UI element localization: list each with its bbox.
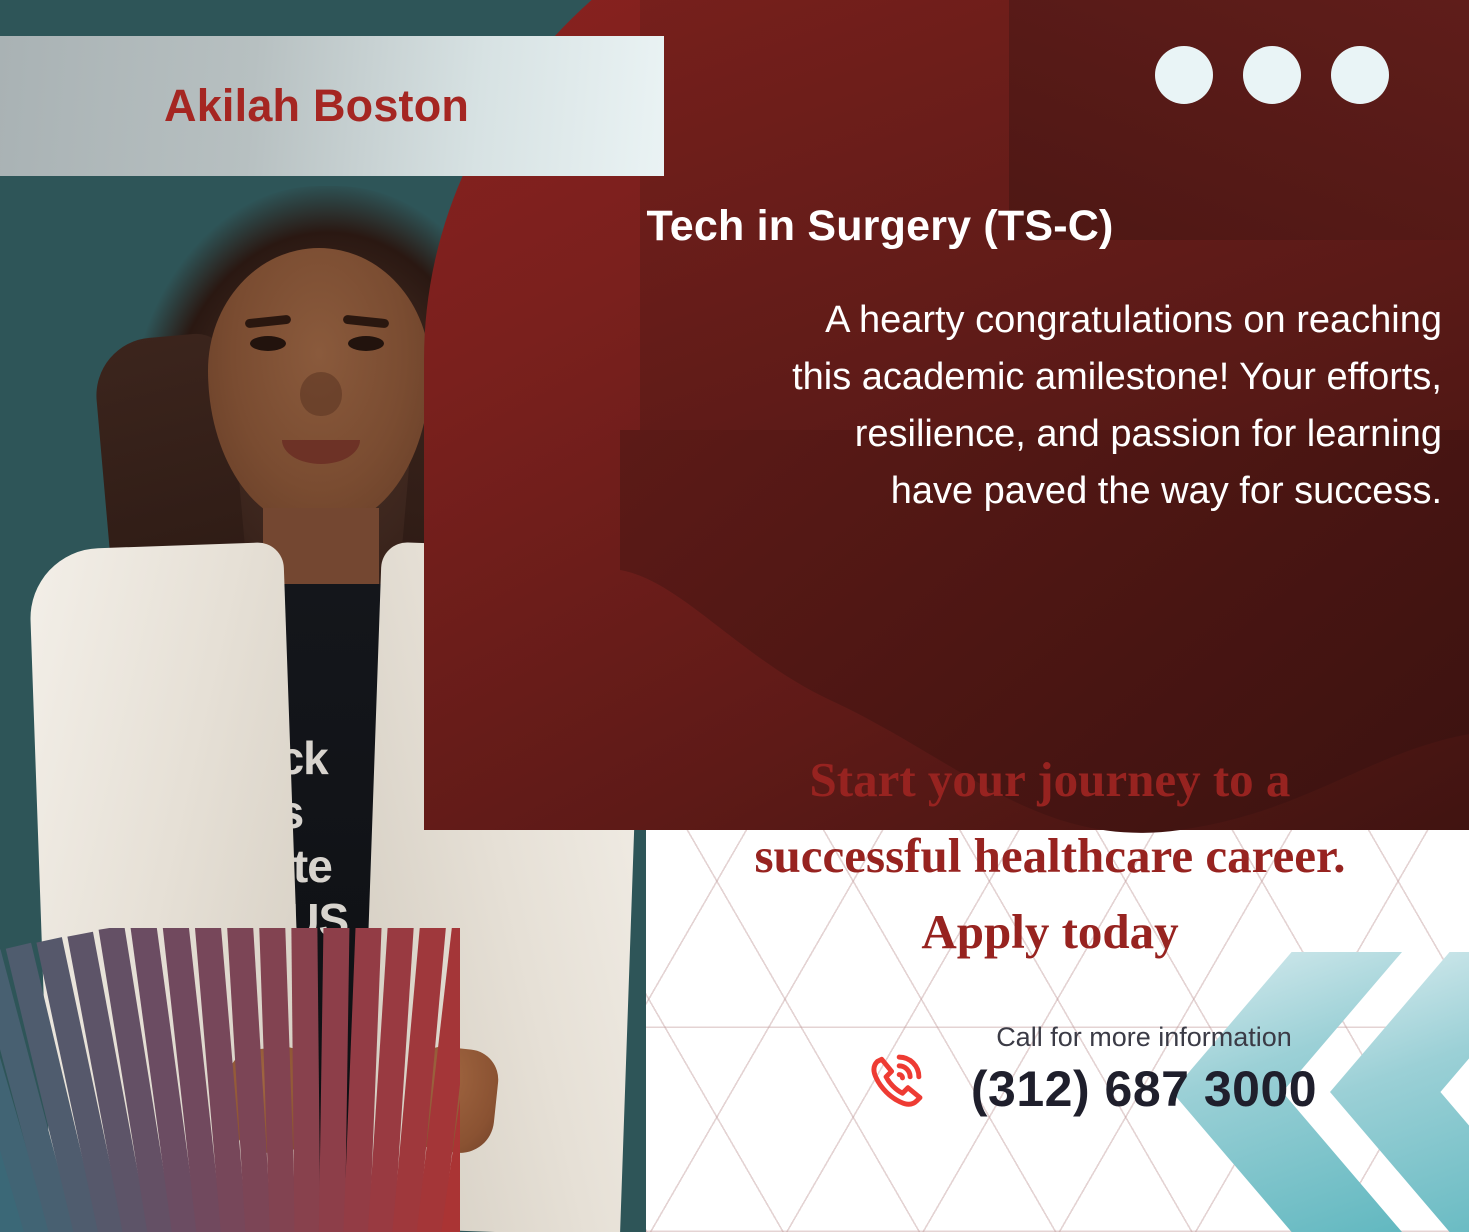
three-dots-icon xyxy=(1155,46,1389,104)
call-to-action-headline: Start your journey to a successful healt… xyxy=(700,742,1400,970)
graduate-name: Akilah Boston xyxy=(164,80,469,132)
dot-2 xyxy=(1243,46,1301,104)
name-banner: Akilah Boston xyxy=(0,36,664,176)
congratulations-message: A hearty congratulations on reaching thi… xyxy=(790,292,1442,520)
program-title: Tech in Surgery (TS-C) xyxy=(560,202,1200,251)
eye-right xyxy=(348,336,384,351)
promotional-poster: ackesatteRUS Akilah Boston Tech in Surge… xyxy=(0,0,1469,1232)
nose xyxy=(300,372,342,416)
phone-number[interactable]: (312) 687 3000 xyxy=(954,1060,1334,1118)
phone-ringing-icon xyxy=(862,1044,932,1114)
striped-fan-icon xyxy=(0,928,460,1232)
fan-stripe xyxy=(291,928,321,1232)
dot-1 xyxy=(1155,46,1213,104)
call-label: Call for more information xyxy=(964,1022,1324,1053)
contact-block: Call for more information (312) 687 3000 xyxy=(862,1022,1332,1132)
dot-3 xyxy=(1331,46,1389,104)
eye-left xyxy=(250,336,286,351)
